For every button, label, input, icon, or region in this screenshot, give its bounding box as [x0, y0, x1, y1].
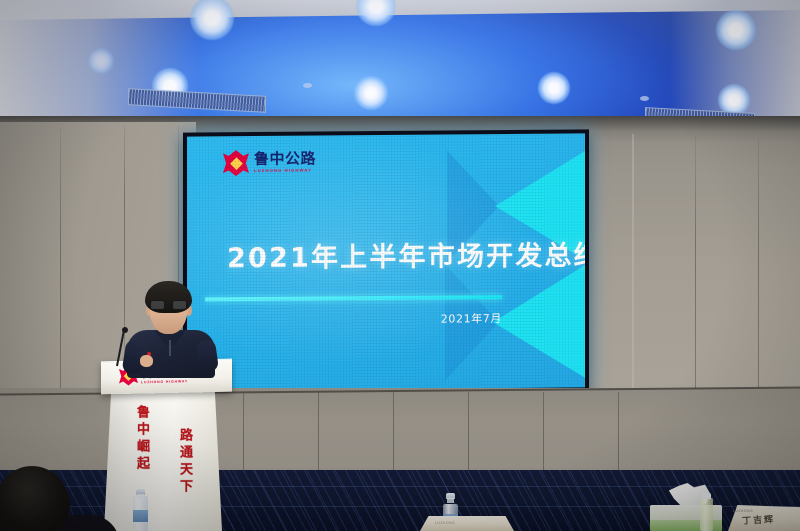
slide-date: 2021年7月: [205, 310, 502, 328]
podium: [104, 392, 222, 531]
luzhong-diamond-logo-icon: [223, 150, 249, 176]
glasses-icon: [150, 300, 187, 311]
podium-slogan-right: 鲁中崛起: [132, 405, 151, 473]
ceiling-downlight-icon: [716, 10, 756, 50]
bottle-neck: [447, 498, 454, 503]
smoke-detector-icon: [303, 83, 312, 88]
microphone-icon: [122, 327, 128, 333]
bottle-label: [133, 510, 148, 522]
slide-divider-rule: [205, 295, 502, 301]
brand-name-en: LUZHONG HIGHWAY: [254, 169, 316, 174]
presentation-slide: 鲁中公路 LUZHONG HIGHWAY 2021年上半年市场开发总结 2021…: [187, 133, 585, 390]
small-bottle-cap-icon: [702, 493, 711, 499]
ceiling-downlight-icon: [354, 76, 388, 110]
smoke-detector-icon: [640, 96, 649, 101]
led-wall-display[interactable]: 鲁中公路 LUZHONG HIGHWAY 2021年上半年市场开发总结 2021…: [183, 129, 589, 393]
bottle-neck: [137, 494, 144, 499]
speaker-shirt-placket: [169, 340, 171, 356]
small-drink-bottle[interactable]: [700, 498, 713, 531]
ceiling-downlight-icon: [538, 72, 570, 104]
ceiling-downlight-icon: [88, 48, 114, 74]
name-card-name: 丁吉辉: [742, 512, 776, 527]
conference-room-photo: 鲁中公路 LUZHONG HIGHWAY 2021年上半年市场开发总结 2021…: [0, 0, 800, 531]
slide-brand-logo: 鲁中公路 LUZHONG HIGHWAY: [223, 150, 316, 177]
speaker-hand: [140, 355, 153, 367]
slide-title: 2021年上半年市场开发总结: [227, 233, 585, 275]
brand-name-cn: 鲁中公路: [254, 152, 316, 167]
slide-chevron-bottom-icon: [493, 261, 585, 382]
podium-slogan-left: 路通天下: [175, 428, 194, 496]
podium-brand-name-en: LUZHONG HIGHWAY: [141, 380, 190, 384]
name-card-subtext: LUZHONG: [435, 521, 455, 525]
